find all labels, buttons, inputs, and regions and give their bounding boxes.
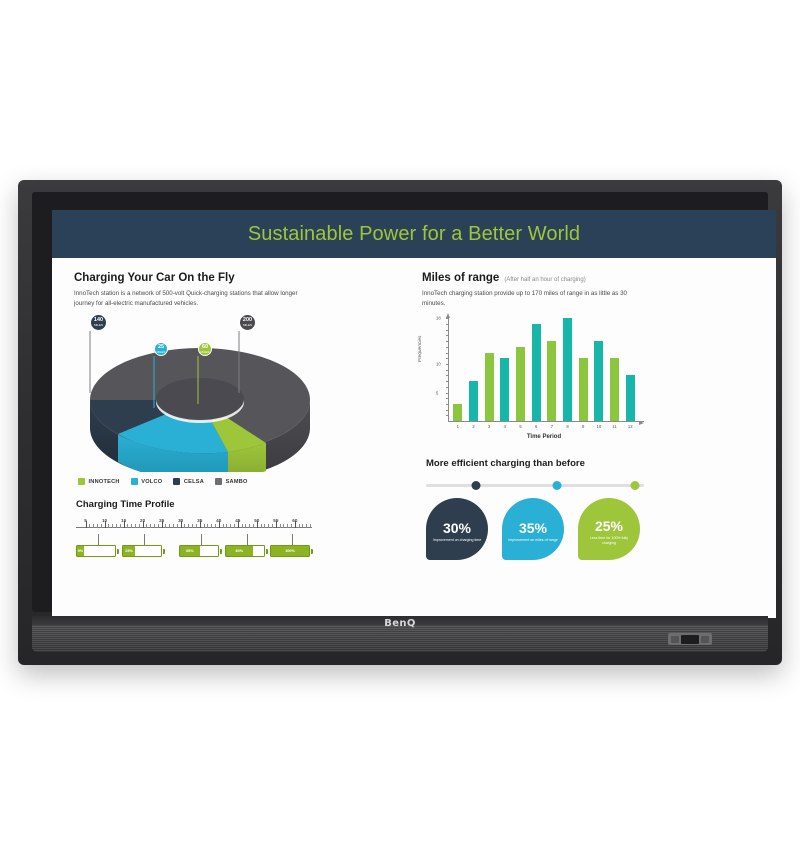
timeline-minor-tick [101,524,102,528]
charging-section-description: InnoTech station is a network of 500-vol… [74,289,304,308]
efficiency-card-caption: Less time for 100% fully charging [578,536,640,546]
bar-chart-y-axis-label: Frequencies [418,336,423,362]
bar-chart-y-tick-label: 10 [436,361,441,366]
bar-chart-bar-cell [575,318,591,421]
legend-item-celsa[interactable]: CELSA [173,478,204,485]
bar-chart-bar-cell [513,318,529,421]
timeline-tick-label: 55 [273,518,278,523]
bar-chart-x-tick-label: 9 [575,424,591,429]
timeline-minor-tick [131,524,132,528]
bar-chart-y-tick-label: 18 [436,316,441,321]
bar-chart-x-tick-label: 1 [450,424,466,429]
timeline-minor-tick [242,524,243,528]
charging-time-profile: Charging Time Profile 510152025303540455… [76,499,400,563]
timeline-tick-label: 15 [121,518,126,523]
legend-label: INNOTECH [89,479,120,485]
timeline-minor-tick [146,524,147,528]
efficiency-progress-track[interactable] [426,480,644,490]
timeline-minor-tick [299,524,300,528]
timeline-minor-tick [169,524,170,528]
bar-chart-y-minor-tick [446,335,449,336]
charging-section-title: Charging Your Car On the Fly [74,272,400,284]
bar-chart-x-tick-label: 7 [544,424,560,429]
battery-indicator[interactable]: 25% [122,545,165,557]
timeline-minor-tick [150,524,151,528]
miles-title-subtitle: (After half an hour of charging) [504,277,585,283]
bar-chart-x-tick-label: 3 [481,424,497,429]
timeline-minor-tick [192,524,193,528]
timeline-tick-label: 5 [84,518,87,523]
timeline-minor-tick [116,524,117,528]
battery-cap-icon [311,549,314,554]
timeline-minor-tick [272,524,273,528]
timeline-minor-tick [204,524,205,528]
battery-shell-icon: 80% [225,545,265,557]
callout-unit: MILES [200,351,209,354]
efficiency-card-caption: Improvement on charging time [427,538,488,543]
slide-body: Charging Your Car On the Fly InnoTech st… [52,258,776,618]
bar-chart-bar[interactable] [516,347,525,421]
speaker-bar: BenQ [32,616,768,652]
timeline-minor-tick [283,524,284,528]
battery-fill: 5% [77,546,84,556]
efficiency-card-percent: 35% [519,521,547,535]
bar-chart-bar-cell [607,318,623,421]
timeline-minor-tick [302,524,303,528]
bar-chart-x-tick-label: 11 [607,424,623,429]
efficiency-dot-1[interactable] [472,481,481,490]
control-key-right-icon[interactable] [701,636,709,643]
callout-unit: MILES [94,324,103,327]
bar-chart-bar-cell [591,318,607,421]
bar-chart-bar-cell [560,318,576,421]
slide-title: Sustainable Power for a Better World [248,223,580,246]
legend-label: CELSA [184,479,204,485]
timeline-minor-tick [245,524,246,528]
timeline-minor-tick [207,524,208,528]
battery-percent-label: 80% [235,549,243,553]
bar-chart-bar[interactable] [563,318,572,421]
battery-shell-icon: 65% [179,545,219,557]
battery-fill: 25% [123,546,135,556]
battery-percent-label: 65% [186,549,194,553]
bar-chart-bar[interactable] [485,353,494,422]
bar-chart-bar-cell [497,318,513,421]
callout-stem [198,356,199,404]
timeline-tick-label: 60 [292,518,297,523]
legend-item-innotech[interactable]: INNOTECH [78,478,120,485]
battery-shell-icon: 25% [122,545,162,557]
bar-chart-x-tick-label: 10 [591,424,607,429]
power-control-panel[interactable] [668,633,712,645]
bar-chart-y-minor-tick [446,387,449,388]
efficiency-card[interactable]: 35%Improvement on miles of range [502,498,564,560]
callout-stem [90,331,91,393]
bar-chart-y-minor-tick [446,324,449,325]
bar-chart-x-tick-label: 5 [513,424,529,429]
timeline-minor-tick [234,524,235,528]
bar-chart-y-tick-label: 5 [436,390,438,395]
bar-chart-bars [450,318,638,421]
bar-chart-bar[interactable] [594,341,603,421]
miles-of-range-title: Miles of range(After half an hour of cha… [422,272,758,284]
efficiency-card[interactable]: 30%Improvement on charging time [426,498,488,560]
callout-stem [154,356,155,408]
battery-indicator[interactable]: 5% [76,545,119,557]
callout-unit: MILES [243,324,252,327]
legend-swatch-icon [131,478,138,485]
timeline-minor-tick [165,524,166,528]
slide-header: Sustainable Power for a Better World [52,210,776,258]
callout-bubble: 200 MILES [239,314,256,331]
timeline-minor-tick [196,524,197,528]
callout-stem [239,331,240,393]
battery-fill: 65% [180,546,200,556]
bar-chart-y-minor-tick [446,375,449,376]
timeline-minor-tick [211,524,212,528]
timeline-minor-tick [112,524,113,528]
legend-item-sambo[interactable]: SAMBO [215,478,248,485]
battery-leader-line [292,534,293,545]
battery-indicator[interactable]: 65% [179,545,222,557]
bar-chart-y-minor-tick [446,404,449,405]
bar-chart-x-axis-label: Time Period [450,434,638,440]
bar-chart-y-minor-tick [446,341,449,342]
timeline-minor-tick [264,524,265,528]
right-column: Miles of range(After half an hour of cha… [414,258,776,618]
bar-chart-x-tick-label: 12 [622,424,638,429]
bar-chart-x-tick-labels: 123456789101112 [450,424,638,429]
efficiency-section: More efficient charging than before 30%I… [426,458,758,560]
legend-swatch-icon [173,478,180,485]
timeline-minor-tick [139,524,140,528]
efficiency-card-percent: 30% [443,521,471,535]
timeline-minor-tick [177,524,178,528]
donut-chart[interactable]: 140 MILES 25 MILES [76,314,366,474]
timeline-minor-tick [97,524,98,528]
timeline-minor-tick [261,524,262,528]
bar-chart-bar[interactable] [469,381,478,421]
bar-chart-y-minor-tick [446,415,449,416]
bar-chart-y-minor-tick [446,381,449,382]
x-axis-arrow-icon [639,421,644,425]
bar-chart-bar-cell [622,318,638,421]
page-root: Sustainable Power for a Better World Cha… [0,0,800,855]
efficiency-card-percent: 25% [595,519,623,533]
battery-percent-label: 100% [285,549,295,553]
bar-chart-y-minor-tick [446,330,449,331]
bar-chart-y-minor-tick [446,364,449,365]
bar-chart-x-tick-label: 6 [528,424,544,429]
timeline-minor-tick [253,524,254,528]
battery-row: 5%25%65%80%100% [76,537,312,563]
timeline-minor-tick [291,524,292,528]
battery-fill: 100% [271,546,309,556]
efficiency-card[interactable]: 25%Less time for 100% fully charging [578,498,640,560]
efficiency-dot-3[interactable] [631,481,640,490]
bar-chart-y-minor-tick [446,370,449,371]
battery-cap-icon [220,549,223,554]
timeline-tick-label: 30 [178,518,183,523]
bar-chart-y-minor-tick [446,398,449,399]
timeline-tick-label: 50 [254,518,259,523]
legend-swatch-icon [215,478,222,485]
timeline-minor-tick [268,524,269,528]
bar-chart-y-minor-tick [446,393,449,394]
timeline-minor-tick [310,524,311,528]
battery-leader-line [98,534,99,545]
bar-chart-x-tick-label: 4 [497,424,513,429]
efficiency-title: More efficient charging than before [426,458,758,469]
battery-percent-label: 25% [125,549,133,553]
timeline-minor-tick [306,524,307,528]
left-column: Charging Your Car On the Fly InnoTech st… [52,258,414,618]
timeline-minor-tick [215,524,216,528]
bar-chart-y-minor-tick [446,347,449,348]
bar-chart-bar[interactable] [500,358,509,421]
timeline-minor-tick [249,524,250,528]
bar-chart-x-tick-label: 2 [466,424,482,429]
battery-indicator[interactable]: 100% [270,545,313,557]
bar-chart-x-axis [448,421,644,422]
miles-of-range-description: InnoTech charging station provide up to … [422,289,652,308]
bar-chart-bar-cell [466,318,482,421]
timeline-minor-tick [173,524,174,528]
bar-chart-y-minor-tick [446,318,449,319]
bar-chart-bar[interactable] [532,324,541,421]
battery-shell-icon: 100% [270,545,310,557]
battery-cap-icon [163,549,166,554]
charging-time-profile-title: Charging Time Profile [76,499,400,510]
battery-leader-line [144,534,145,545]
miles-title-text: Miles of range [422,272,499,284]
timeline-minor-tick [226,524,227,528]
legend-swatch-icon [78,478,85,485]
legend-label: SAMBO [226,479,248,485]
battery-leader-line [201,534,202,545]
bar-chart-bar-cell [481,318,497,421]
timeline-minor-tick [93,524,94,528]
brand-logo: BenQ [384,618,416,629]
timeline-minor-tick [223,524,224,528]
battery-leader-line [247,534,248,545]
timeline-minor-tick [287,524,288,528]
bar-chart-bar-cell [544,318,560,421]
callout-unit: MILES [156,351,165,354]
efficiency-dot-2[interactable] [552,481,561,490]
timeline-minor-tick [184,524,185,528]
battery-shell-icon: 5% [76,545,116,557]
bar-chart-bar[interactable] [610,358,619,421]
timeline-minor-tick [154,524,155,528]
monitor-bezel: Sustainable Power for a Better World Cha… [32,192,768,612]
donut-chart-svg [76,340,366,472]
bar-chart-plot-area: 51018 [448,318,638,422]
bar-chart-bar-cell [528,318,544,421]
donut-legend: INNOTECH VOLCO CELSA [78,478,400,485]
battery-fill: 80% [226,546,253,556]
timeline-tick-label: 20 [140,518,145,523]
bar-chart-bar[interactable] [579,358,588,421]
timeline-minor-tick [108,524,109,528]
timeline-tick-label: 35 [197,518,202,523]
timeline-tick-label: 10 [102,518,107,523]
efficiency-cards: 30%Improvement on charging time35%Improv… [426,498,758,560]
timeline-minor-tick [135,524,136,528]
timeline-minor-tick [230,524,231,528]
bar-chart-bar[interactable] [547,341,556,421]
control-key-power-icon[interactable] [681,635,699,644]
legend-item-volco[interactable]: VOLCO [131,478,163,485]
battery-percent-label: 5% [78,549,84,553]
timeline-minor-tick [127,524,128,528]
timeline-tick-label: 25 [159,518,164,523]
bar-chart-bar[interactable] [626,375,635,421]
charging-timeline[interactable]: 51015202530354045505560 [76,518,312,534]
display-screen[interactable]: Sustainable Power for a Better World Cha… [52,210,776,618]
timeline-minor-tick [280,524,281,528]
bar-chart-x-tick-label: 8 [560,424,576,429]
timeline-minor-tick [158,524,159,528]
efficiency-track-line [426,484,644,487]
battery-indicator[interactable]: 80% [225,545,268,557]
bar-chart-bar-cell [450,318,466,421]
legend-label: VOLCO [141,479,162,485]
timeline-minor-tick [188,524,189,528]
battery-cap-icon [117,549,120,554]
monitor-chassis: Sustainable Power for a Better World Cha… [18,180,782,665]
bar-chart-y-minor-tick [446,358,449,359]
efficiency-card-caption: Improvement on miles of range [502,538,564,543]
frequencies-bar-chart[interactable]: Frequencies 51018 123456789101112 Time P… [426,314,650,452]
timeline-tick-label: 40 [216,518,221,523]
callout-bubble: 140 MILES [90,314,107,331]
timeline-tick-label: 45 [235,518,240,523]
bar-chart-y-minor-tick [446,353,449,354]
bar-chart-bar[interactable] [453,404,462,421]
timeline-minor-tick [89,524,90,528]
battery-cap-icon [266,549,269,554]
bar-chart-y-minor-tick [446,410,449,411]
timeline-minor-tick [120,524,121,528]
control-key-left-icon[interactable] [671,636,679,643]
